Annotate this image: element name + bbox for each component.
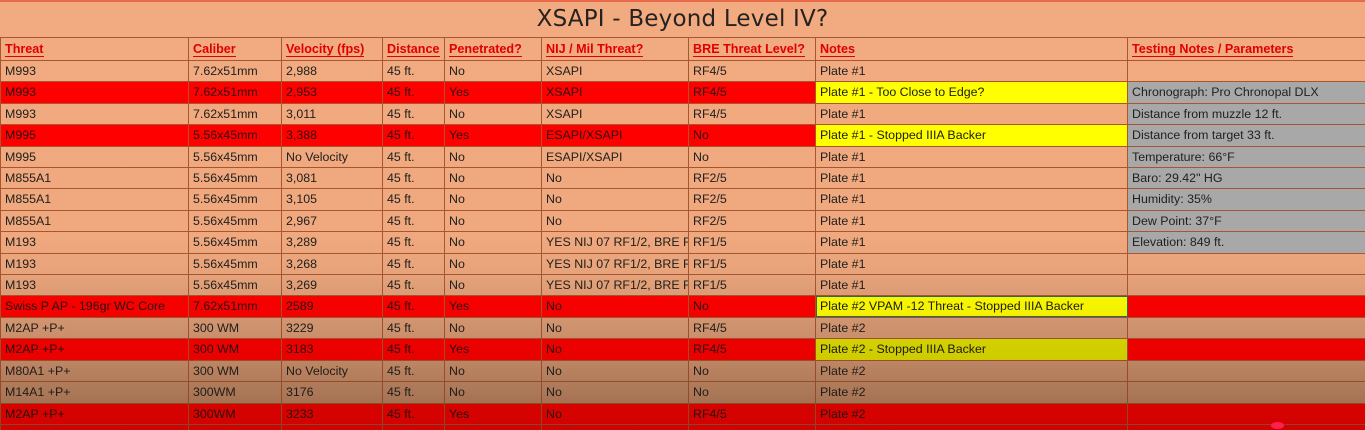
cell-distance[interactable]: 45 ft. xyxy=(383,339,445,360)
cell-caliber[interactable]: 7.62x51mm xyxy=(189,61,282,82)
data-sheet: Threat Caliber Velocity (fps) Distance P… xyxy=(0,37,1365,430)
cell-caliber[interactable]: 7.62x51mm xyxy=(189,296,282,317)
cell-nij-threat[interactable]: YES NIJ 07 RF1/2, BRE RF1/5 xyxy=(542,275,689,296)
cell-penetrated[interactable]: Yes xyxy=(445,403,542,424)
table-row[interactable]: M1935.56x45mm3,26945 ft.NoYES NIJ 07 RF1… xyxy=(1,275,1365,296)
cell-nij-threat[interactable]: No xyxy=(542,382,689,403)
table-row[interactable]: M80A1 +P+300 WMNo Velocity45 ft.NoNoNoPl… xyxy=(1,360,1365,381)
table-row[interactable]: M14A1 +P+300WM317645 ft.NoNoNoPlate #2 xyxy=(1,382,1365,403)
cell-nij-threat[interactable]: XSAPI xyxy=(542,82,689,103)
cell-notes[interactable]: Plate #1 xyxy=(816,146,1128,167)
cell-threat[interactable]: M2AP +P+ xyxy=(1,339,189,360)
cell-bre-level[interactable]: RF4/5 xyxy=(689,103,816,124)
cell-testing-notes[interactable] xyxy=(1128,253,1365,274)
table-row[interactable]: M2AP +P+300 WM318345 ft.YesNoRF4/5Plate … xyxy=(1,339,1365,360)
cell-velocity[interactable]: 3183 xyxy=(282,339,383,360)
cell-caliber[interactable]: 300WM xyxy=(189,403,282,424)
cell-caliber[interactable]: 300WM xyxy=(189,382,282,403)
cell-notes[interactable]: Plate #1 xyxy=(816,189,1128,210)
cell-bre-level[interactable]: RF2/5 xyxy=(689,210,816,231)
cell-nij-threat[interactable]: ESAPI/XSAPI xyxy=(542,125,689,146)
cell-notes[interactable]: Plate #2 - Stopped IIIA Backer xyxy=(816,339,1128,360)
cell-testing-notes[interactable] xyxy=(1128,360,1365,381)
cell-threat[interactable]: M993 xyxy=(1,61,189,82)
cell-testing-notes[interactable]: Humidity: 35% xyxy=(1128,189,1365,210)
cell-penetrated[interactable]: No xyxy=(445,210,542,231)
cell-testing-notes[interactable]: Dew Point: 37°F xyxy=(1128,210,1365,231)
cell-distance[interactable]: 45 ft. xyxy=(383,146,445,167)
table-row[interactable]: M2AP +P+300WM323345 ft.YesNoRF4/5Plate #… xyxy=(1,403,1365,424)
cell-penetrated[interactable]: No xyxy=(445,103,542,124)
ballistic-test-table: Threat Caliber Velocity (fps) Distance P… xyxy=(0,37,1365,430)
cell-caliber[interactable]: 300 WM xyxy=(189,339,282,360)
cell-penetrated[interactable]: No xyxy=(445,168,542,189)
table-header-row: Threat Caliber Velocity (fps) Distance P… xyxy=(1,38,1365,61)
cell-notes[interactable]: Plate #1 xyxy=(816,210,1128,231)
table-row[interactable]: M2AP +P+300 WM322945 ft.NoNoRF4/5Plate #… xyxy=(1,317,1365,338)
cell-penetrated[interactable]: Yes xyxy=(445,296,542,317)
cell-distance[interactable]: 45 ft. xyxy=(383,317,445,338)
cell-caliber[interactable]: 300WM xyxy=(189,424,282,430)
cell-penetrated[interactable]: No xyxy=(445,232,542,253)
cell-notes[interactable]: Plate #2 xyxy=(816,382,1128,403)
cell-testing-notes[interactable] xyxy=(1128,424,1365,430)
cell-penetrated[interactable]: Yes xyxy=(445,339,542,360)
column-header-nij-mil-threat[interactable]: NIJ / Mil Threat? xyxy=(542,38,689,61)
cell-notes[interactable]: Plate #1 xyxy=(816,168,1128,189)
cell-distance[interactable]: 45 ft. xyxy=(383,168,445,189)
cell-threat[interactable]: M193 xyxy=(1,232,189,253)
cell-penetrated[interactable]: No xyxy=(445,360,542,381)
cell-distance[interactable]: 45 ft. xyxy=(383,82,445,103)
table-row[interactable]: M9955.56x45mmNo Velocity45 ft.NoESAPI/XS… xyxy=(1,146,1365,167)
cell-caliber[interactable]: 5.56x45mm xyxy=(189,125,282,146)
cell-bre-level[interactable]: No xyxy=(689,125,816,146)
cell-caliber[interactable]: 5.56x45mm xyxy=(189,253,282,274)
cell-nij-threat[interactable]: No xyxy=(542,339,689,360)
cell-bre-level[interactable]: No xyxy=(689,146,816,167)
cell-nij-threat[interactable]: No xyxy=(542,424,689,430)
cell-threat[interactable]: M995 xyxy=(1,146,189,167)
cell-bre-level[interactable]: RF2/5 xyxy=(689,168,816,189)
page-title: XSAPI - Beyond Level IV? xyxy=(537,6,829,32)
cell-testing-notes[interactable] xyxy=(1128,275,1365,296)
cell-threat[interactable]: M2AP +P+ xyxy=(1,317,189,338)
cell-bre-level[interactable]: No xyxy=(689,360,816,381)
cell-caliber[interactable]: 5.56x45mm xyxy=(189,210,282,231)
table-body: M9937.62x51mm2,98845 ft.NoXSAPIRF4/5Plat… xyxy=(1,61,1365,430)
cell-notes[interactable]: Plate #1 xyxy=(816,232,1128,253)
column-header-notes[interactable]: Notes xyxy=(816,38,1128,61)
cell-penetrated[interactable]: No xyxy=(445,317,542,338)
table-row[interactable]: M855A15.56x45mm2,96745 ft.NoNoRF2/5Plate… xyxy=(1,210,1365,231)
cell-bre-level[interactable]: No xyxy=(689,296,816,317)
cell-testing-notes[interactable]: Elevation: 849 ft. xyxy=(1128,232,1365,253)
cell-penetrated[interactable]: No xyxy=(445,189,542,210)
cell-bre-level[interactable]: RF4/5 xyxy=(689,61,816,82)
cell-velocity[interactable]: 3,011 xyxy=(282,103,383,124)
cell-caliber[interactable]: 300 WM xyxy=(189,360,282,381)
cell-notes[interactable]: Plate #1 xyxy=(816,103,1128,124)
cell-testing-notes[interactable]: Distance from muzzle 12 ft. xyxy=(1128,103,1365,124)
cell-velocity[interactable]: 2,953 xyxy=(282,82,383,103)
cell-velocity[interactable]: 2,988 xyxy=(282,61,383,82)
cell-velocity[interactable]: 3,289 xyxy=(282,232,383,253)
cell-caliber[interactable]: 5.56x45mm xyxy=(189,275,282,296)
cell-bre-level[interactable]: RF4/5 xyxy=(689,424,816,430)
cell-bre-level[interactable]: No xyxy=(689,382,816,403)
cell-notes[interactable]: Plate #2 xyxy=(816,317,1128,338)
cell-threat[interactable]: Swiss P AP - 196gr WC Core xyxy=(1,296,189,317)
cell-velocity[interactable]: 2589 xyxy=(282,296,383,317)
cell-distance[interactable]: 45 ft. xyxy=(383,210,445,231)
cell-penetrated[interactable]: Yes xyxy=(445,82,542,103)
column-header-threat[interactable]: Threat xyxy=(1,38,189,61)
cell-velocity[interactable]: 3,081 xyxy=(282,168,383,189)
cell-velocity[interactable]: 3176 xyxy=(282,382,383,403)
cell-threat[interactable]: M855A1 xyxy=(1,168,189,189)
cell-velocity[interactable]: 3307 xyxy=(282,424,383,430)
cell-distance[interactable]: 45 ft. xyxy=(383,382,445,403)
cell-bre-level[interactable]: RF4/5 xyxy=(689,317,816,338)
cell-notes[interactable]: Plate #1 - Too Close to Edge? xyxy=(816,82,1128,103)
column-header-distance[interactable]: Distance xyxy=(383,38,445,61)
cell-testing-notes[interactable] xyxy=(1128,403,1365,424)
cell-testing-notes[interactable]: Chronograph: Pro Chronopal DLX xyxy=(1128,82,1365,103)
cell-testing-notes[interactable] xyxy=(1128,382,1365,403)
table-row[interactable]: Swiss P AP - 196gr WC Core7.62x51mm25894… xyxy=(1,296,1365,317)
cell-caliber[interactable]: 300 WM xyxy=(189,317,282,338)
cell-penetrated[interactable]: Yes xyxy=(445,125,542,146)
cell-bre-level[interactable]: RF1/5 xyxy=(689,275,816,296)
cell-testing-notes[interactable] xyxy=(1128,339,1365,360)
column-header-bre-threat-level[interactable]: BRE Threat Level? xyxy=(689,38,816,61)
cell-caliber[interactable]: 7.62x51mm xyxy=(189,82,282,103)
cell-threat[interactable]: M2AP +P+ xyxy=(1,424,189,430)
cell-velocity[interactable]: 3,105 xyxy=(282,189,383,210)
cell-threat[interactable]: M193 xyxy=(1,253,189,274)
cell-penetrated[interactable]: No xyxy=(445,146,542,167)
cell-notes[interactable]: Plate #2 xyxy=(816,424,1128,430)
table-row[interactable]: M2AP +P+300WM330745 ft.YesNoRF4/5Plate #… xyxy=(1,424,1365,430)
cell-threat[interactable]: M993 xyxy=(1,82,189,103)
cell-nij-threat[interactable]: YES NIJ 07 RF1/2, BRE RF1/5 xyxy=(542,232,689,253)
title-bar: XSAPI - Beyond Level IV? xyxy=(0,0,1365,37)
cell-notes[interactable]: Plate #2 xyxy=(816,403,1128,424)
cell-nij-threat[interactable]: YES NIJ 07 RF1/2, BRE RF1/5 xyxy=(542,253,689,274)
cell-bre-level[interactable]: RF2/5 xyxy=(689,189,816,210)
cell-nij-threat[interactable]: No xyxy=(542,403,689,424)
table-row[interactable]: M9937.62x51mm2,95345 ft.YesXSAPIRF4/5Pla… xyxy=(1,82,1365,103)
cell-distance[interactable]: 45 ft. xyxy=(383,424,445,430)
cell-penetrated[interactable]: No xyxy=(445,382,542,403)
cell-threat[interactable]: M2AP +P+ xyxy=(1,403,189,424)
cell-notes[interactable]: Plate #1 - Stopped IIIA Backer xyxy=(816,125,1128,146)
table-row[interactable]: M1935.56x45mm3,28945 ft.NoYES NIJ 07 RF1… xyxy=(1,232,1365,253)
cell-notes[interactable]: Plate #2 xyxy=(816,360,1128,381)
cell-distance[interactable]: 45 ft. xyxy=(383,232,445,253)
spreadsheet-screen: XSAPI - Beyond Level IV? Threat Caliber … xyxy=(0,0,1365,430)
cell-distance[interactable]: 45 ft. xyxy=(383,403,445,424)
cell-distance[interactable]: 45 ft. xyxy=(383,61,445,82)
column-header-caliber[interactable]: Caliber xyxy=(189,38,282,61)
cell-nij-threat[interactable]: No xyxy=(542,168,689,189)
cell-nij-threat[interactable]: No xyxy=(542,296,689,317)
column-header-penetrated[interactable]: Penetrated? xyxy=(445,38,542,61)
cell-bre-level[interactable]: RF4/5 xyxy=(689,403,816,424)
cell-bre-level[interactable]: RF4/5 xyxy=(689,82,816,103)
cell-threat[interactable]: M193 xyxy=(1,275,189,296)
cell-caliber[interactable]: 5.56x45mm xyxy=(189,146,282,167)
cell-nij-threat[interactable]: No xyxy=(542,189,689,210)
cell-nij-threat[interactable]: No xyxy=(542,360,689,381)
table-row[interactable]: M9937.62x51mm3,01145 ft.NoXSAPIRF4/5Plat… xyxy=(1,103,1365,124)
cell-threat[interactable]: M855A1 xyxy=(1,189,189,210)
column-header-velocity[interactable]: Velocity (fps) xyxy=(282,38,383,61)
cell-distance[interactable]: 45 ft. xyxy=(383,296,445,317)
cell-threat[interactable]: M995 xyxy=(1,125,189,146)
cell-caliber[interactable]: 5.56x45mm xyxy=(189,189,282,210)
cell-nij-threat[interactable]: No xyxy=(542,210,689,231)
cell-velocity[interactable]: 3229 xyxy=(282,317,383,338)
cell-velocity[interactable]: No Velocity xyxy=(282,360,383,381)
cell-caliber[interactable]: 5.56x45mm xyxy=(189,168,282,189)
cell-notes[interactable]: Plate #1 xyxy=(816,61,1128,82)
cell-distance[interactable]: 45 ft. xyxy=(383,253,445,274)
cell-threat[interactable]: M855A1 xyxy=(1,210,189,231)
cell-threat[interactable]: M80A1 +P+ xyxy=(1,360,189,381)
cell-penetrated[interactable]: No xyxy=(445,275,542,296)
cell-distance[interactable]: 45 ft. xyxy=(383,360,445,381)
cell-velocity[interactable]: No Velocity xyxy=(282,146,383,167)
cell-testing-notes[interactable] xyxy=(1128,296,1365,317)
cell-distance[interactable]: 45 ft. xyxy=(383,189,445,210)
cell-nij-threat[interactable]: XSAPI xyxy=(542,103,689,124)
cell-distance[interactable]: 45 ft. xyxy=(383,275,445,296)
cell-testing-notes[interactable]: Temperature: 66°F xyxy=(1128,146,1365,167)
cell-testing-notes[interactable] xyxy=(1128,317,1365,338)
cell-threat[interactable]: M14A1 +P+ xyxy=(1,382,189,403)
cell-nij-threat[interactable]: No xyxy=(542,317,689,338)
mouse-cursor-dot xyxy=(1271,422,1284,429)
cell-bre-level[interactable]: RF4/5 xyxy=(689,339,816,360)
cell-testing-notes[interactable]: Distance from target 33 ft. xyxy=(1128,125,1365,146)
cell-bre-level[interactable]: RF1/5 xyxy=(689,232,816,253)
column-header-testing-notes[interactable]: Testing Notes / Parameters xyxy=(1128,38,1365,61)
cell-notes[interactable]: Plate #1 xyxy=(816,275,1128,296)
cell-distance[interactable]: 45 ft. xyxy=(383,125,445,146)
cell-penetrated[interactable]: No xyxy=(445,61,542,82)
table-row[interactable]: M855A15.56x45mm3,08145 ft.NoNoRF2/5Plate… xyxy=(1,168,1365,189)
cell-notes[interactable]: Plate #2 VPAM -12 Threat - Stopped IIIA … xyxy=(816,296,1128,317)
cell-nij-threat[interactable]: XSAPI xyxy=(542,61,689,82)
cell-caliber[interactable]: 5.56x45mm xyxy=(189,232,282,253)
table-row[interactable]: M855A15.56x45mm3,10545 ft.NoNoRF2/5Plate… xyxy=(1,189,1365,210)
cell-nij-threat[interactable]: ESAPI/XSAPI xyxy=(542,146,689,167)
table-row[interactable]: M9955.56x45mm3,38845 ft.YesESAPI/XSAPINo… xyxy=(1,125,1365,146)
cell-penetrated[interactable]: Yes xyxy=(445,424,542,430)
cell-testing-notes[interactable] xyxy=(1128,61,1365,82)
cell-bre-level[interactable]: RF1/5 xyxy=(689,253,816,274)
cell-threat[interactable]: M993 xyxy=(1,103,189,124)
cell-caliber[interactable]: 7.62x51mm xyxy=(189,103,282,124)
cell-notes[interactable]: Plate #1 xyxy=(816,253,1128,274)
cell-velocity[interactable]: 3,269 xyxy=(282,275,383,296)
cell-velocity[interactable]: 3,388 xyxy=(282,125,383,146)
cell-velocity[interactable]: 3,268 xyxy=(282,253,383,274)
cell-distance[interactable]: 45 ft. xyxy=(383,103,445,124)
table-row[interactable]: M1935.56x45mm3,26845 ft.NoYES NIJ 07 RF1… xyxy=(1,253,1365,274)
table-row[interactable]: M9937.62x51mm2,98845 ft.NoXSAPIRF4/5Plat… xyxy=(1,61,1365,82)
cell-testing-notes[interactable]: Baro: 29.42" HG xyxy=(1128,168,1365,189)
cell-velocity[interactable]: 3233 xyxy=(282,403,383,424)
cell-penetrated[interactable]: No xyxy=(445,253,542,274)
cell-velocity[interactable]: 2,967 xyxy=(282,210,383,231)
